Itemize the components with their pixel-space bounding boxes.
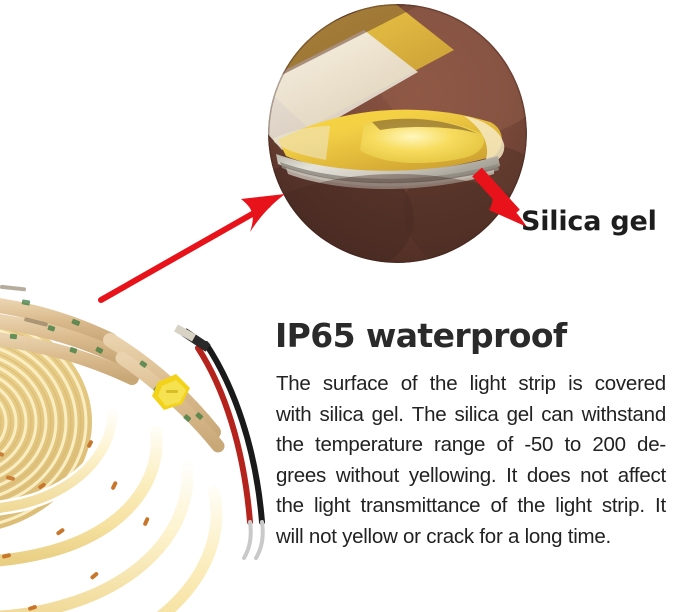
body-line: will not yellow or crack for a long time… [276, 522, 666, 553]
body-line: thelighttransmittanceofthelightstrip.It [276, 491, 666, 522]
product-feature-image: Silica gel IP65 waterproof Thesurfaceoft… [0, 0, 679, 612]
body-line: Thesurfaceofthelightstripiscovered [276, 369, 666, 400]
silica-gel-closeup-inset [268, 4, 527, 263]
page-title: IP65 waterproof [275, 316, 567, 355]
body-line: thetemperaturerangeof-50to200de- [276, 430, 666, 461]
feature-description: Thesurfaceofthelightstripiscovered withs… [276, 369, 666, 552]
body-line: withsilicagel.Thesilicagelcanwithstand [276, 400, 666, 431]
body-line: greeswithoutyellowing.Itdoesnotaffect [276, 461, 666, 492]
led-strip-roll-photo [0, 236, 280, 612]
silica-gel-label: Silica gel [521, 206, 657, 237]
